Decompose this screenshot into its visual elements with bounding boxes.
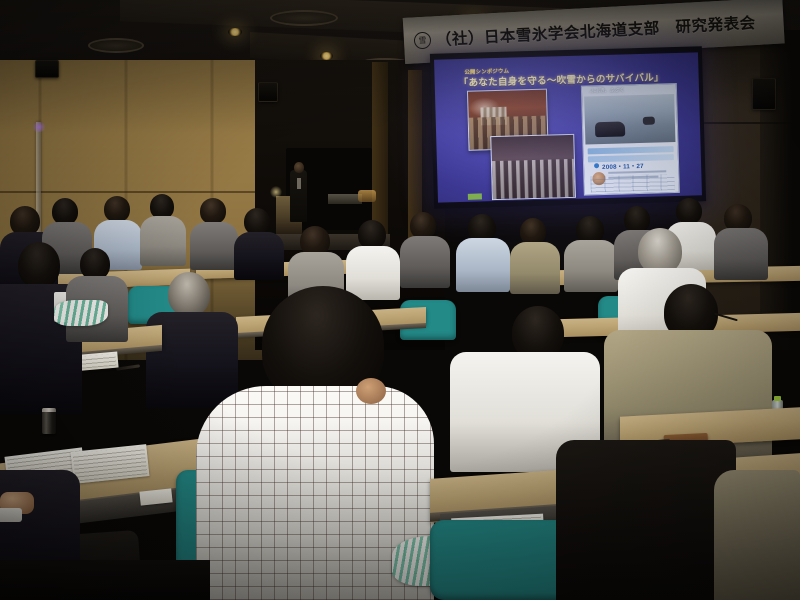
- poster-textline: [608, 170, 666, 174]
- poster-car-icon: [643, 117, 655, 125]
- audience-member: [714, 470, 800, 600]
- banner-title-text: （社）日本雪氷学会北海道支部 研究発表会: [435, 11, 756, 50]
- presenter-head: [294, 162, 304, 173]
- wall-speaker-icon: [752, 78, 776, 110]
- conference-hall-photo: 雪 （社）日本雪氷学会北海道支部 研究発表会 公開シンポジウム 「あなた自身を守…: [0, 0, 800, 600]
- poster-band: [588, 146, 674, 154]
- poster-car-icon: [595, 121, 625, 137]
- chair-back-dark: [556, 440, 736, 600]
- paper-text-lines: [73, 446, 148, 481]
- ceiling-downlight: [228, 28, 242, 36]
- stage-object: [358, 190, 376, 202]
- neck: [356, 378, 386, 404]
- coffee-can: [42, 408, 56, 434]
- poster-bullet-icon: [594, 163, 599, 168]
- pink-cloth: [54, 300, 108, 326]
- can-lid: [42, 408, 56, 412]
- slide-corner-accent: [468, 193, 482, 199]
- presenter-shirt: [297, 178, 301, 189]
- society-logo-icon: 雪: [414, 31, 432, 49]
- projection-screen: 公開シンポジウム 「あなた自身を守る〜吹雪からのサバイバル」 ふぶき、ふぶく 2…: [430, 46, 706, 209]
- wall-speaker-icon: [35, 60, 59, 78]
- poster-date-text: 2008・11・27: [602, 161, 644, 171]
- poster-schedule-table: [590, 174, 674, 192]
- photo-crowd-detail: [492, 158, 575, 199]
- shirt-cuff: [0, 508, 22, 522]
- ceiling-vent: [88, 38, 144, 53]
- podium-lamp-icon: [270, 186, 282, 198]
- bottle-cap: [774, 396, 781, 401]
- ceiling-downlight: [320, 52, 333, 60]
- slide-poster-image: ふぶき、ふぶく 2008・11・27: [581, 83, 680, 196]
- foreground-shadow: [0, 560, 210, 600]
- ballpoint-pen: [116, 364, 140, 370]
- presentation-slide: 公開シンポジウム 「あなた自身を守る〜吹雪からのサバイバル」 ふぶき、ふぶく 2…: [434, 52, 702, 202]
- poster-heading-text: ふぶき、ふぶく: [590, 86, 625, 94]
- wall-speaker-icon: [258, 82, 278, 102]
- ceiling-vent: [270, 10, 338, 26]
- poster-snow-road-photo: [584, 94, 675, 144]
- pole-light-glint: [31, 122, 47, 132]
- slide-photo-seated-audience: [490, 134, 576, 200]
- stage-table: [328, 194, 362, 204]
